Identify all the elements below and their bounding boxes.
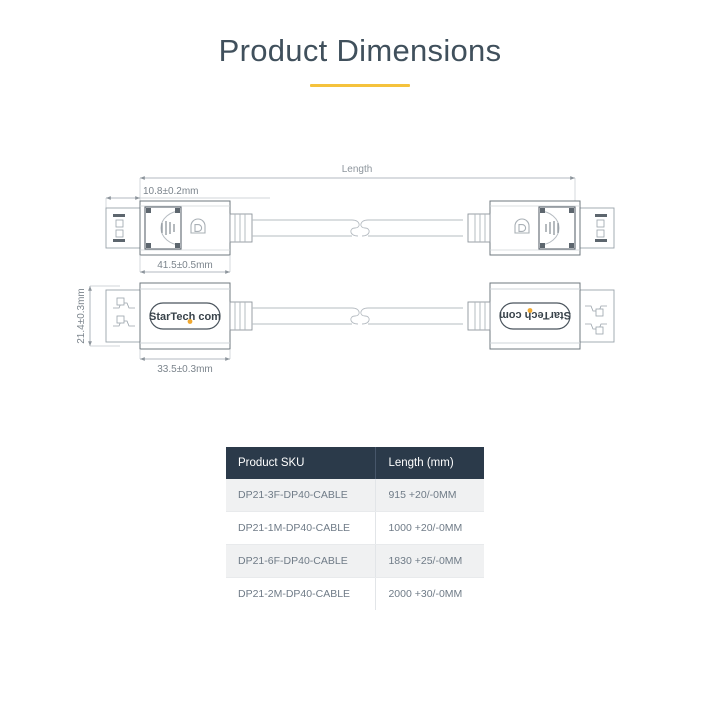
table-row: DP21-3F-DP40-CABLE 915 +20/-0MM <box>226 479 484 512</box>
cell-length: 2000 +30/-0MM <box>376 578 484 611</box>
startech-logo-mirrored: StarTech com <box>499 303 571 329</box>
cable-dimension-diagram: StarTech com <box>0 150 720 400</box>
page-title: Product Dimensions <box>0 34 720 68</box>
startech-logo: StarTech com <box>149 303 221 329</box>
table-row: DP21-2M-DP40-CABLE 2000 +30/-0MM <box>226 578 484 611</box>
svg-text:StarTech com: StarTech com <box>149 311 221 323</box>
page-header: Product Dimensions <box>0 34 720 87</box>
cell-length: 915 +20/-0MM <box>376 479 484 512</box>
cell-sku: DP21-3F-DP40-CABLE <box>226 479 376 512</box>
cell-sku: DP21-2M-DP40-CABLE <box>226 578 376 611</box>
plug-depth-label: 10.8±0.2mm <box>143 186 199 197</box>
cell-sku: DP21-1M-DP40-CABLE <box>226 512 376 545</box>
right-connector-side: StarTech com <box>468 283 614 349</box>
product-dimensions-page: Product Dimensions <box>0 0 720 720</box>
length-dimension <box>140 178 575 202</box>
body-length-bottom-label: 33.5±0.3mm <box>157 364 213 375</box>
body-length-top-label: 41.5±0.5mm <box>157 260 213 271</box>
table-row: DP21-1M-DP40-CABLE 1000 +20/-0MM <box>226 512 484 545</box>
column-header-length: Length (mm) <box>376 447 484 479</box>
cable-top <box>252 220 463 236</box>
left-connector-side: StarTech com <box>106 283 252 349</box>
body-length-bottom-dimension <box>140 349 230 359</box>
dimensions-table-wrap: Product SKU Length (mm) DP21-3F-DP40-CAB… <box>226 447 484 610</box>
length-label: Length <box>342 164 373 175</box>
left-connector-top <box>106 201 252 255</box>
body-height-label: 21.4±0.3mm <box>76 288 87 344</box>
column-header-sku: Product SKU <box>226 447 376 479</box>
side-view-group: StarTech com <box>90 283 614 349</box>
cell-length: 1000 +20/-0MM <box>376 512 484 545</box>
cable-bottom <box>252 308 463 324</box>
title-accent-rule <box>310 84 410 87</box>
table-row: DP21-6F-DP40-CABLE 1830 +25/-0MM <box>226 545 484 578</box>
cell-sku: DP21-6F-DP40-CABLE <box>226 545 376 578</box>
table-header-row: Product SKU Length (mm) <box>226 447 484 479</box>
right-connector-top <box>468 201 614 255</box>
cell-length: 1830 +25/-0MM <box>376 545 484 578</box>
product-sku-length-table: Product SKU Length (mm) DP21-3F-DP40-CAB… <box>226 447 484 610</box>
svg-text:StarTech com: StarTech com <box>499 309 571 321</box>
